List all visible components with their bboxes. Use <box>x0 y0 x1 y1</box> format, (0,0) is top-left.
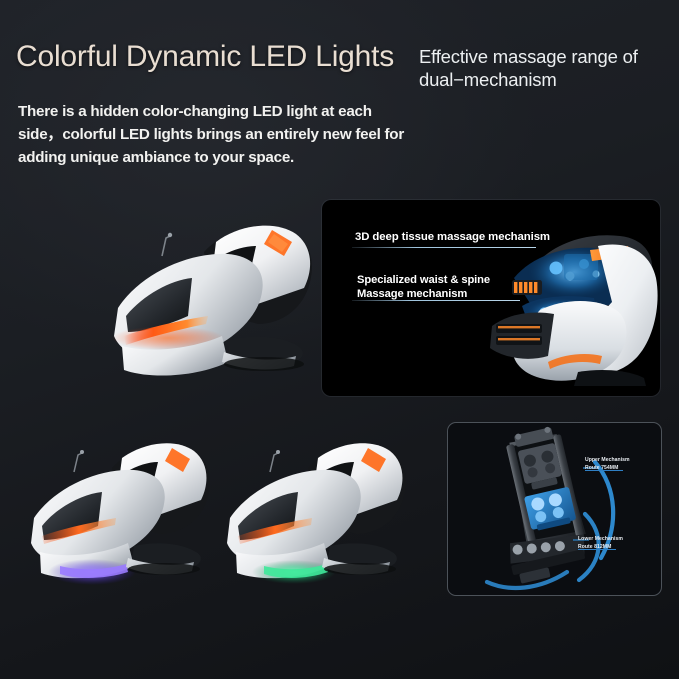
upper-mechanism-underline <box>585 470 623 471</box>
section-subtitle: Effective massage range of dual−mechanis… <box>419 46 669 92</box>
chair-led-green <box>212 432 418 604</box>
upper-mechanism-title: Upper Mechanism <box>585 457 630 465</box>
callout-leader-line-1 <box>352 247 536 248</box>
upper-mechanism-value: Route 754MM <box>585 465 630 473</box>
chair-led-orange <box>96 212 328 400</box>
lower-mechanism-value: Route 812MM <box>578 544 623 552</box>
lower-mechanism-title: Lower Mechanism <box>578 536 623 544</box>
callout-3d-deep-tissue: 3D deep tissue massage mechanism <box>355 231 550 243</box>
lower-mechanism-underline <box>578 549 616 550</box>
page-title: Colorful Dynamic LED Lights <box>16 40 394 73</box>
chair-led-purple <box>16 432 222 604</box>
callout-waist-spine: Specialized waist & spine Massage mechan… <box>357 273 490 302</box>
product-marketing-image: Colorful Dynamic LED Lights There is a h… <box>0 0 679 679</box>
body-description: There is a hidden color-changing LED lig… <box>18 100 406 169</box>
dual-mechanism-diagram <box>447 422 660 594</box>
